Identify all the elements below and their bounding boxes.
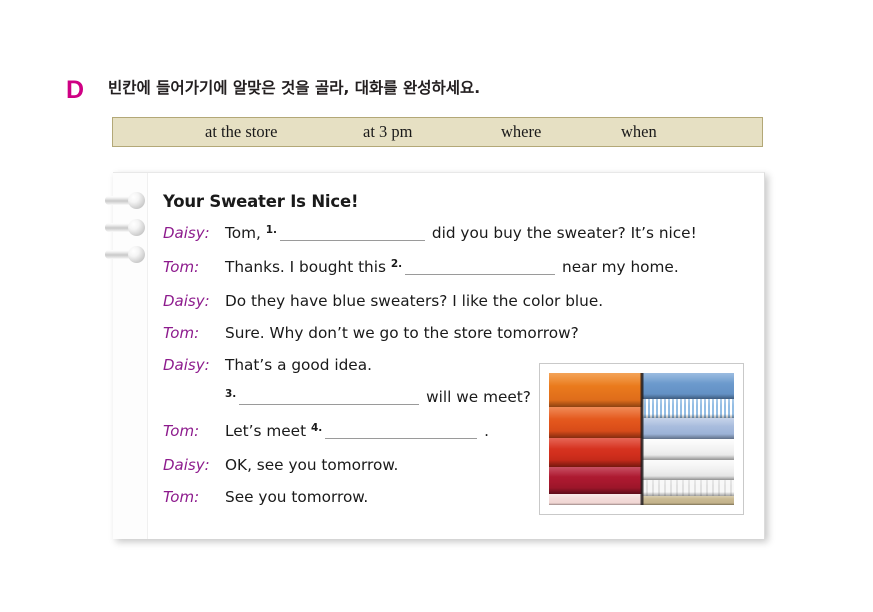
utterance-pre: Tom, [225,217,266,249]
photo-left-stack [549,373,642,505]
utterance-post: will we meet? [421,381,531,413]
utterance: Thanks. I bought this 2. near my home. [225,251,679,285]
sweater-pink-white [549,494,642,505]
utterance: Tom, 1. did you buy the sweater? It’s ni… [225,217,697,251]
dialogue-line: Tom: Sure. Why don’t we go to the store … [163,317,748,349]
sweater-orange [549,373,642,407]
blank-number: 1. [266,214,277,246]
blank-number: 2. [391,248,402,280]
sweater-blue [642,373,735,399]
utterance-pre: Sure. Why don’t we go to the store tomor… [225,317,579,349]
word-bank-option[interactable]: where [501,122,541,142]
speaker-label: Tom: [163,317,225,349]
utterance-pre: Do they have blue sweaters? I like the c… [225,285,603,317]
spiral-ring-knob [128,219,145,236]
speaker-label: Tom: [163,415,225,447]
utterance: Do they have blue sweaters? I like the c… [225,285,603,317]
speaker-label: Daisy: [163,449,225,481]
sweater-striped-blue [642,399,735,417]
speaker-label: Tom: [163,481,225,513]
utterance: Let’s meet 4. . [225,415,489,449]
dialogue-card: Your Sweater Is Nice! Daisy: Tom, 1. did… [113,172,765,539]
word-bank-items: at the store at 3 pm where when [113,118,762,146]
speaker-label: Daisy: [163,349,225,381]
answer-blank-4[interactable] [325,421,477,439]
sweater-photo [549,373,734,505]
utterance: Sure. Why don’t we go to the store tomor… [225,317,579,349]
blank-number: 3. [225,378,236,410]
sweater-light-blue [642,418,735,439]
utterance-pre: That’s a good idea. [225,349,372,381]
answer-blank-3[interactable] [239,387,419,405]
speaker-label: Tom: [163,251,225,283]
dialogue-title: Your Sweater Is Nice! [163,193,748,211]
sweater-white-2 [642,460,735,480]
section-letter: D [66,78,108,103]
utterance: See you tomorrow. [225,481,368,513]
word-bank-option[interactable]: when [621,122,657,142]
speaker-label: Daisy: [163,217,225,249]
photo-right-stack [642,373,735,505]
blank-number: 4. [311,412,322,444]
utterance: OK, see you tomorrow. [225,449,398,481]
sweater-photo-frame [539,363,744,515]
spiral-ring-icon [105,246,151,263]
word-bank-option[interactable]: at the store [205,122,277,142]
utterance: That’s a good idea. [225,349,372,381]
sweater-crimson [549,467,642,495]
instruction-row: D 빈칸에 들어가기에 알맞은 것을 골라, 대화를 완성하세요. [66,78,480,103]
sweater-beige [642,496,735,505]
spiral-ring-icon [105,219,151,236]
dialogue-line: Tom: Thanks. I bought this 2. near my ho… [163,251,748,285]
word-bank: at the store at 3 pm where when [112,117,763,147]
sweater-ribbed-white [642,480,735,496]
utterance: 3. will we meet? [225,381,531,415]
utterance-pre: Let’s meet [225,415,311,447]
answer-blank-2[interactable] [405,257,555,275]
spiral-ring-knob [128,246,145,263]
utterance-pre: OK, see you tomorrow. [225,449,398,481]
spiral-ring-icon [105,192,151,209]
answer-blank-1[interactable] [280,223,425,241]
sweater-red [549,438,642,467]
utterance-post: . [479,415,489,447]
spiral-ring-knob [128,192,145,209]
sweater-dark-orange [549,407,642,437]
utterance-pre: Thanks. I bought this [225,251,391,283]
word-bank-option[interactable]: at 3 pm [363,122,413,142]
utterance-pre: See you tomorrow. [225,481,368,513]
speaker-label: Daisy: [163,285,225,317]
photo-stack-divider [640,373,643,505]
sweater-white-1 [642,439,735,460]
dialogue-line: Daisy: Do they have blue sweaters? I lik… [163,285,748,317]
instruction-text: 빈칸에 들어가기에 알맞은 것을 골라, 대화를 완성하세요. [108,78,480,97]
utterance-post: near my home. [557,251,679,283]
dialogue-line: Daisy: Tom, 1. did you buy the sweater? … [163,217,748,251]
utterance-post: did you buy the sweater? It’s nice! [427,217,697,249]
